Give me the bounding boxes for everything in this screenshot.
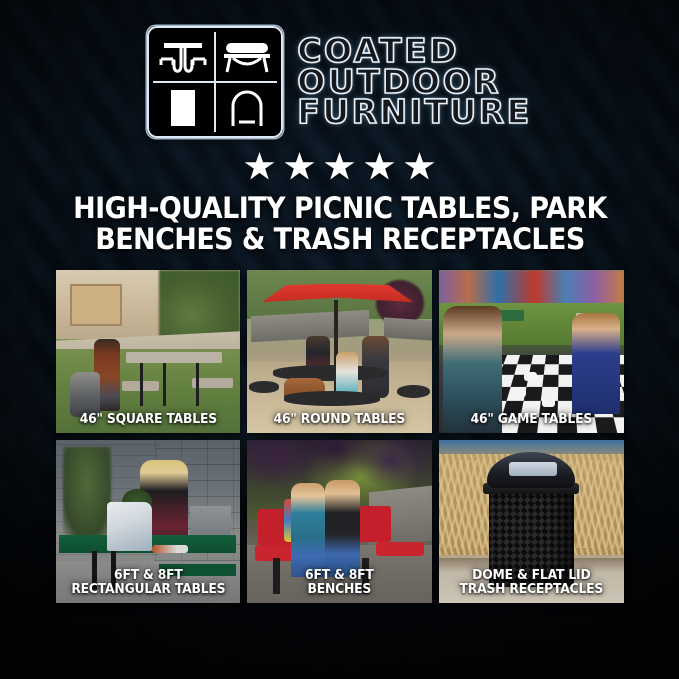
brand-wordmark: COATED OUTDOOR FURNITURE [297,36,531,127]
category-tile-rectangular-tables[interactable]: 6FT & 8FT RECTANGULAR TABLES [56,440,241,603]
category-tile-square-tables[interactable]: 46" SQUARE TABLES [56,270,241,433]
star-icon [285,152,315,181]
star-icon [365,152,395,181]
tile-caption: 46" GAME TABLES [447,413,615,427]
category-tile-trash-receptacles[interactable]: DOME & FLAT LID TRASH RECEPTACLES [439,440,624,603]
photo-game-tables [439,270,624,433]
product-banner: COATED OUTDOOR FURNITURE HIGH-QUALITY PI… [0,0,679,679]
tile-caption: 6FT & 8FT BENCHES [256,569,424,596]
category-tile-round-tables[interactable]: 46" ROUND TABLES [247,270,432,433]
product-category-grid: 46" SQUARE TABLES 46" ROUND TABLES [56,270,624,603]
headline-line-1: HIGH-QUALITY PICNIC TABLES, PARK [61,193,619,224]
banner-content: COATED OUTDOOR FURNITURE HIGH-QUALITY PI… [0,0,679,679]
tile-caption: 46" ROUND TABLES [256,413,424,427]
tile-caption: 46" SQUARE TABLES [64,413,232,427]
tile-caption: DOME & FLAT LID TRASH RECEPTACLES [447,569,615,596]
tile-caption: 6FT & 8FT RECTANGULAR TABLES [64,569,232,596]
category-tile-benches[interactable]: 6FT & 8FT BENCHES [247,440,432,603]
headline: HIGH-QUALITY PICNIC TABLES, PARK BENCHES… [61,193,619,254]
photo-round-tables [247,270,432,433]
star-icon [245,152,275,181]
wordmark-line-3: FURNITURE [297,97,531,127]
headline-line-2: BENCHES & TRASH RECEPTACLES [61,224,619,255]
brand-logo: COATED OUTDOOR FURNITURE [147,26,531,138]
category-tile-game-tables[interactable]: 46" GAME TABLES [439,270,624,433]
trash-receptacle-icon [171,90,195,126]
star-icon [405,152,435,181]
photo-square-tables [56,270,241,433]
star-rating [245,152,435,181]
coated-outdoor-furniture-logo-icon [147,26,283,138]
star-icon [325,152,355,181]
